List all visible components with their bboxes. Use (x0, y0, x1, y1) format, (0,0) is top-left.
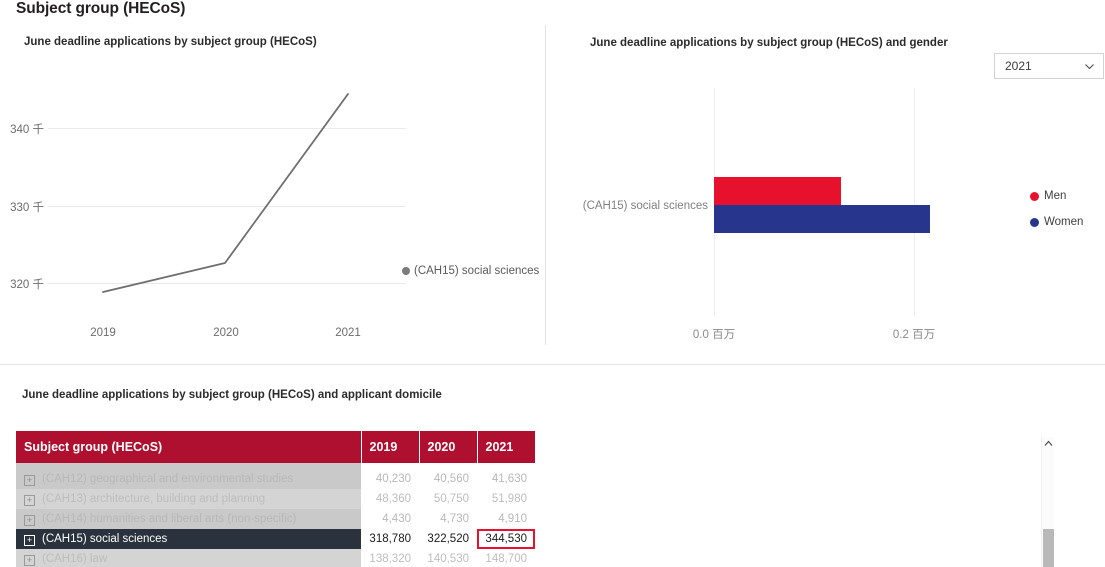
row-label: (CAH13) architecture, building and plann… (42, 493, 265, 505)
table-row[interactable]: +(CAH12) geographical and environmental … (16, 469, 535, 489)
expand-icon[interactable]: + (24, 515, 35, 526)
x-axis-tick-02m: 0.2 百万 (874, 326, 954, 342)
table-cell-2020: 322,520 (419, 529, 477, 549)
table-cell-2019: 318,780 (361, 529, 419, 549)
column-header-subject-group[interactable]: Subject group (HECoS) (16, 431, 361, 463)
bar-category-label: (CAH15) social sciences (545, 200, 708, 212)
table-row[interactable]: +(CAH16) law 138,320 140,530 148,700 (16, 549, 535, 567)
table-row-selected[interactable]: +(CAH15) social sciences 318,780 322,520… (16, 529, 535, 549)
expand-icon[interactable]: + (24, 495, 35, 506)
table-cell-2021: 4,910 (477, 509, 535, 529)
bar-chart-legend: Men Women (1030, 190, 1083, 242)
table-cell-2020: 50,750 (419, 489, 477, 509)
page-title: Subject group (HECoS) (16, 0, 185, 18)
table-cell-2020: 140,530 (419, 549, 477, 567)
legend-marker-men-icon (1030, 192, 1039, 201)
expand-icon[interactable]: + (24, 475, 35, 486)
line-series-path (0, 60, 545, 350)
column-header-2019[interactable]: 2019 (361, 431, 419, 463)
line-chart-title: June deadline applications by subject gr… (24, 36, 317, 48)
table-title: June deadline applications by subject gr… (22, 389, 442, 401)
table-cell-2020: 40,560 (419, 469, 477, 489)
legend-marker-icon (402, 267, 410, 275)
table-cell-2021-highlighted[interactable]: 344,530 (477, 529, 535, 549)
table-cell-2019: 138,320 (361, 549, 419, 567)
row-label: (CAH12) geographical and environmental s… (42, 473, 293, 485)
legend-label-women: Women (1044, 216, 1083, 228)
legend-item-women[interactable]: Women (1030, 216, 1083, 228)
table-cell-2021: 41,630 (477, 469, 535, 489)
table-cell-2019: 4,430 (361, 509, 419, 529)
table-cell-2019: 48,360 (361, 489, 419, 509)
panel-horizontal-divider (0, 364, 1105, 365)
table-cell-label: +(CAH15) social sciences (16, 529, 361, 549)
scroll-thumb[interactable] (1043, 529, 1054, 567)
table-cell-label: +(CAH16) law (16, 549, 361, 567)
x-axis-tick-2019: 2019 (73, 327, 133, 339)
bar-women[interactable] (714, 205, 930, 233)
expand-icon[interactable]: + (24, 555, 35, 566)
table-vertical-scrollbar[interactable] (1041, 437, 1054, 567)
x-axis-tick-2020: 2020 (196, 327, 256, 339)
legend-label-men: Men (1044, 190, 1066, 202)
row-label: (CAH14) humanities and liberal arts (non… (42, 513, 296, 525)
bar-chart: (CAH15) social sciences 0.0 百万 0.2 百万 Me… (545, 60, 1105, 350)
scroll-up-arrow-icon[interactable] (1042, 437, 1055, 450)
table-row[interactable]: +(CAH13) architecture, building and plan… (16, 489, 535, 509)
gridline-x-02m (914, 88, 915, 316)
data-table: Subject group (HECoS) 2019 2020 2021 +(C… (16, 431, 536, 567)
table-cell-label: +(CAH13) architecture, building and plan… (16, 489, 361, 509)
x-axis-tick-2021: 2021 (318, 327, 378, 339)
table-cell-2020: 4,730 (419, 509, 477, 529)
legend-label: (CAH15) social sciences (414, 265, 539, 277)
table-cell-label: +(CAH12) geographical and environmental … (16, 469, 361, 489)
table-cell-2021: 148,700 (477, 549, 535, 567)
table-row[interactable]: +(CAH14) humanities and liberal arts (no… (16, 509, 535, 529)
table-header-row: Subject group (HECoS) 2019 2020 2021 (16, 431, 535, 463)
column-header-2020[interactable]: 2020 (419, 431, 477, 463)
legend-item-men[interactable]: Men (1030, 190, 1083, 202)
table-cell-2021: 51,980 (477, 489, 535, 509)
bar-men[interactable] (714, 177, 841, 205)
column-header-2021[interactable]: 2021 (477, 431, 535, 463)
legend-marker-women-icon (1030, 218, 1039, 227)
line-chart-legend[interactable]: (CAH15) social sciences (402, 265, 539, 277)
dashboard-page: Subject group (HECoS) June deadline appl… (0, 0, 1105, 567)
line-chart: 340 千 330 千 320 千 2019 2020 2021 (CAH15)… (0, 60, 545, 350)
row-label: (CAH16) law (42, 553, 107, 565)
row-label: (CAH15) social sciences (42, 533, 167, 545)
bar-chart-title: June deadline applications by subject gr… (590, 37, 948, 49)
table-cell-2019: 40,230 (361, 469, 419, 489)
x-axis-tick-0: 0.0 百万 (674, 326, 754, 342)
expand-icon[interactable]: + (24, 535, 35, 546)
data-table-viewport[interactable]: Subject group (HECoS) 2019 2020 2021 +(C… (16, 431, 1037, 567)
table-cell-label: +(CAH14) humanities and liberal arts (no… (16, 509, 361, 529)
